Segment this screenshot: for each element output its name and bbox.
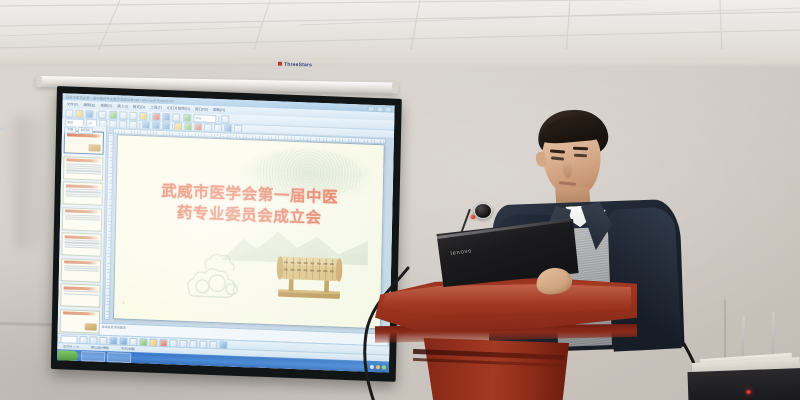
photo-scene: ThreeStars 武威市医学会第一届中医药专业委员会成立会.ppt - Mi… bbox=[0, 0, 800, 400]
equipment-led-icon bbox=[746, 390, 751, 394]
slide-title: 武威市医学会第一届中医 药专业委员会成立会 bbox=[127, 180, 373, 230]
menu-item-window[interactable]: 窗口(W) bbox=[195, 107, 208, 112]
thumbnail-text-line bbox=[63, 270, 98, 273]
slide-thumbnail[interactable]: 3 bbox=[62, 181, 102, 206]
new-file-icon[interactable] bbox=[65, 109, 73, 117]
start-button[interactable] bbox=[58, 350, 78, 361]
toolbar-separator bbox=[96, 111, 97, 117]
thumbnail-title-bar bbox=[64, 261, 99, 265]
slide-thumbnail[interactable]: 4 bbox=[62, 207, 102, 232]
print-icon[interactable] bbox=[99, 110, 107, 118]
thumbnail-text-line bbox=[64, 246, 99, 249]
vertical-ruler bbox=[104, 133, 114, 320]
slide-thumbnail[interactable]: 8 bbox=[60, 309, 100, 334]
screen-surface: 武威市医学会第一届中医药专业委员会成立会.ppt - Microsoft Pow… bbox=[57, 93, 395, 372]
thumbnail-title-bar bbox=[65, 184, 100, 188]
thumbnail-title-bar bbox=[66, 158, 101, 162]
menu-item-help[interactable]: 帮助(H) bbox=[213, 107, 225, 112]
undo-icon[interactable] bbox=[152, 112, 160, 120]
paste-icon[interactable] bbox=[139, 112, 147, 120]
taskbar-window-item[interactable] bbox=[81, 351, 105, 362]
powerpoint-body: 1 2 bbox=[58, 125, 394, 346]
thumbnail-text-line bbox=[63, 293, 98, 296]
thumbnail-title-bar bbox=[65, 210, 100, 214]
open-folder-icon[interactable] bbox=[76, 109, 84, 117]
window-buttons[interactable] bbox=[368, 105, 392, 112]
microphone-head bbox=[474, 203, 492, 219]
network-icon[interactable] bbox=[370, 364, 374, 368]
toolbar-separator bbox=[150, 113, 151, 119]
slide-thumbnail[interactable]: 5 bbox=[61, 232, 101, 257]
menu-item-edit[interactable]: 编辑(E) bbox=[83, 103, 95, 108]
slide-thumbnail[interactable]: 6 bbox=[61, 258, 101, 283]
thumbnail-text-line bbox=[65, 219, 100, 222]
lectern-column bbox=[411, 338, 569, 400]
brand-dot-icon bbox=[278, 62, 282, 66]
menu-item-insert[interactable]: 插入(I) bbox=[117, 104, 128, 109]
insert-chart-icon[interactable] bbox=[183, 113, 191, 121]
taskbar-window-item[interactable] bbox=[107, 352, 131, 363]
slide-thumbnail[interactable]: 7 bbox=[60, 284, 100, 309]
microphone-led-icon bbox=[471, 215, 475, 219]
menu-item-view[interactable]: 视图(V) bbox=[100, 103, 112, 108]
thumbnail-image bbox=[85, 323, 97, 330]
ceiling-tile-grid bbox=[0, 0, 800, 56]
zoom-combo[interactable]: 47% bbox=[193, 114, 216, 123]
hand bbox=[534, 265, 575, 298]
toolbar-separator bbox=[218, 116, 219, 122]
projection-screen: 武威市医学会第一届中医药专业委员会成立会.ppt - Microsoft Pow… bbox=[51, 86, 402, 382]
menu-item-tools[interactable]: 工具(T) bbox=[150, 105, 162, 110]
speaker-hand-layer bbox=[506, 110, 706, 340]
current-slide[interactable]: 武威市医学会第一届中医 药专业委员会成立会 bbox=[113, 134, 385, 329]
thumbnail-title-bar bbox=[63, 312, 98, 316]
spellcheck-icon[interactable] bbox=[109, 110, 117, 118]
slide-thumbnail[interactable]: 2 bbox=[63, 156, 103, 181]
save-icon[interactable] bbox=[86, 110, 94, 118]
slide-thumbnail-pane[interactable]: 1 2 bbox=[58, 125, 108, 336]
thumbnail-text-line bbox=[66, 172, 101, 175]
tab-slides[interactable]: 幻灯片 bbox=[78, 127, 93, 134]
thumbnail-image bbox=[89, 144, 101, 151]
insert-table-icon[interactable] bbox=[173, 113, 181, 121]
roller-cap-right bbox=[392, 83, 398, 94]
thumbnail-text-line bbox=[65, 195, 100, 198]
outline-slide-tabs[interactable]: 大纲 幻灯片 bbox=[64, 126, 93, 134]
menu-item-slideshow[interactable]: 幻灯片放映(D) bbox=[167, 106, 190, 112]
menu-item-file[interactable]: 文件(F) bbox=[67, 102, 79, 107]
powerpoint-window: 武威市医学会第一届中医药专业委员会成立会.ppt - Microsoft Pow… bbox=[57, 93, 395, 372]
thumbnail-title-bar bbox=[64, 235, 99, 239]
restore-icon[interactable] bbox=[376, 105, 383, 111]
help-icon[interactable] bbox=[221, 115, 229, 123]
tab-outline[interactable]: 大纲 bbox=[64, 126, 76, 133]
screen-brand-label: ThreeStars bbox=[278, 62, 312, 69]
slide-editing-stage[interactable]: 武威市医学会第一届中医 药专业委员会成立会 bbox=[103, 127, 394, 347]
slide-thumbnail[interactable]: 1 bbox=[64, 130, 104, 155]
thumbnail-title-bar bbox=[63, 286, 98, 290]
menu-item-format[interactable]: 格式(O) bbox=[133, 104, 145, 109]
minimize-icon[interactable] bbox=[368, 105, 375, 111]
cut-icon[interactable] bbox=[119, 111, 127, 119]
close-icon[interactable] bbox=[385, 106, 392, 112]
sound-icon: ♪ bbox=[122, 301, 127, 306]
roller-cap-left bbox=[36, 76, 42, 87]
copy-icon[interactable] bbox=[129, 111, 137, 119]
brand-text: ThreeStars bbox=[284, 62, 312, 69]
redo-icon[interactable] bbox=[163, 112, 171, 120]
bamboo-scroll-icon bbox=[253, 243, 366, 308]
